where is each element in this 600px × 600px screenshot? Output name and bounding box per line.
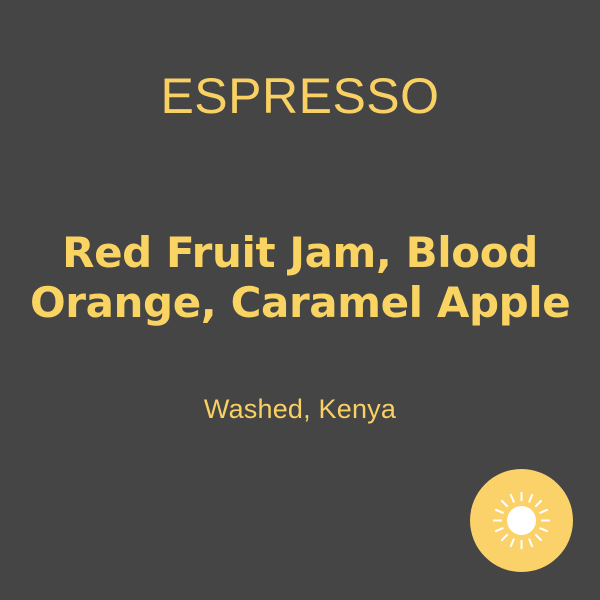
coffee-label-card: ESPRESSO Red Fruit Jam, Blood Orange, Ca…: [0, 0, 600, 600]
sun-badge: [470, 469, 573, 572]
process-origin-subtitle: Washed, Kenya: [0, 392, 600, 426]
tasting-notes-line-2: Orange, Caramel Apple: [30, 278, 570, 328]
sun-icon: [470, 469, 573, 572]
tasting-notes: Red Fruit Jam, Blood Orange, Caramel App…: [30, 228, 570, 328]
tasting-notes-line-1: Red Fruit Jam, Blood: [30, 228, 570, 278]
page-title: ESPRESSO: [0, 68, 600, 124]
